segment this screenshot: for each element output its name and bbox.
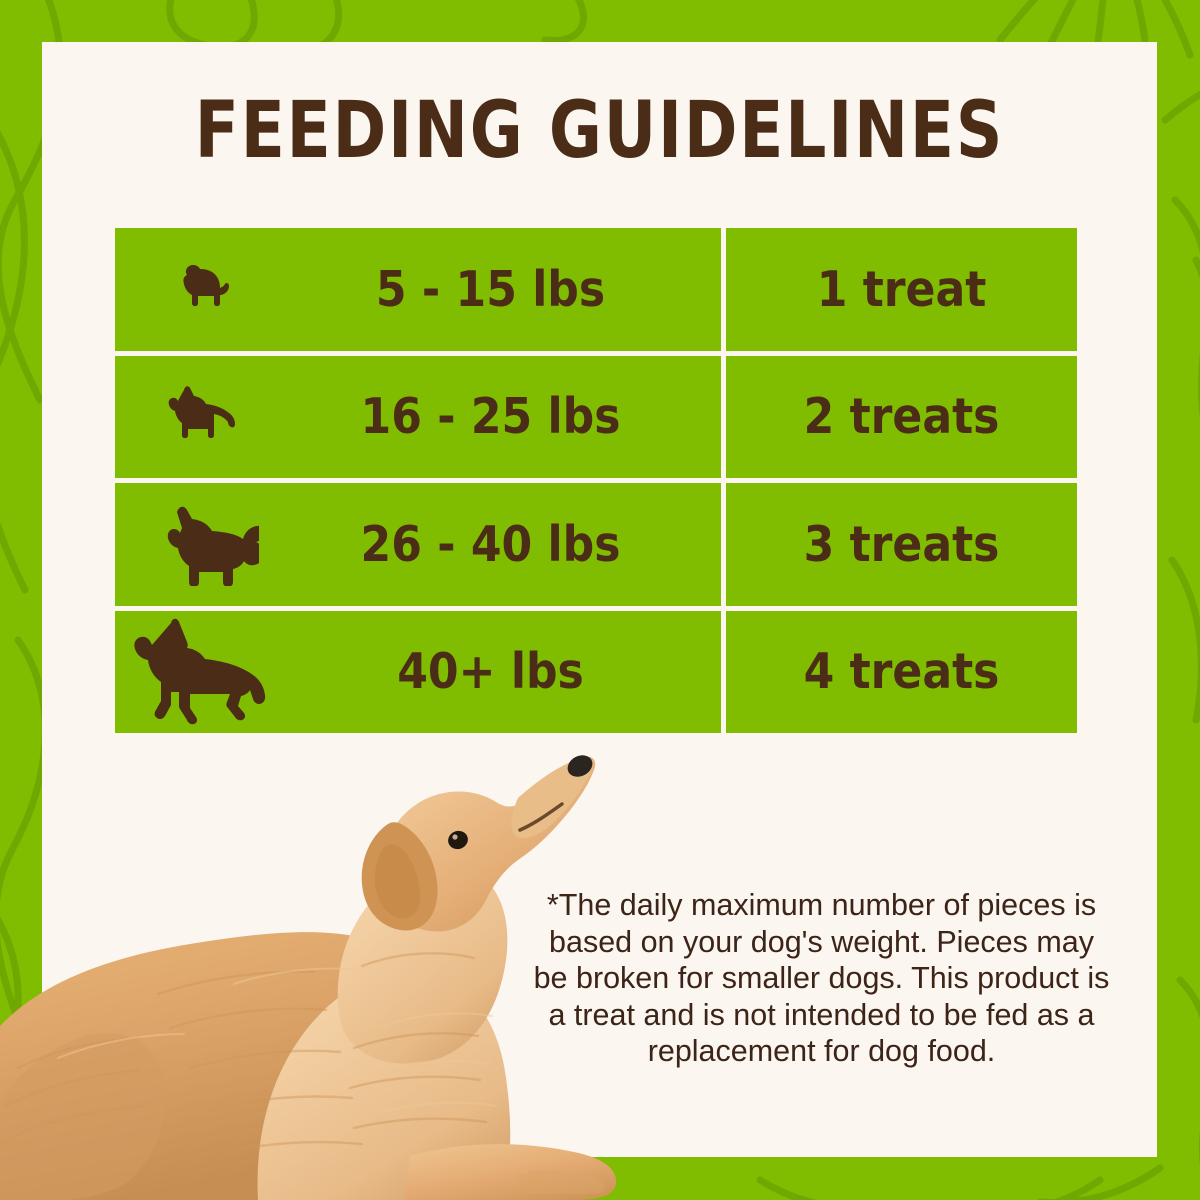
treats-cell: 4 treats bbox=[726, 611, 1077, 734]
treat-label: 2 treats bbox=[804, 388, 1000, 445]
corgi-dog-icon bbox=[115, 384, 290, 450]
treats-cell: 1 treat bbox=[726, 228, 1077, 351]
treat-label: 3 treats bbox=[804, 516, 1000, 573]
weight-cell: 16 - 25 lbs bbox=[115, 356, 721, 479]
treat-label: 4 treats bbox=[804, 643, 1000, 700]
disclaimer-text: *The daily maximum number of pieces is b… bbox=[529, 887, 1114, 1070]
weight-cell: 40+ lbs bbox=[115, 611, 721, 734]
weight-label: 5 - 15 lbs bbox=[290, 261, 721, 318]
medium-fluffy-dog-icon bbox=[115, 502, 290, 586]
feeding-guidelines-table: 5 - 15 lbs 1 treat 16 - 25 lbs 2 treats bbox=[115, 228, 1077, 733]
content-card: FEEDING GUIDELINES 5 - 15 lbs 1 treat bbox=[42, 42, 1157, 1157]
page-title: FEEDING GUIDELINES bbox=[87, 92, 1113, 170]
table-row: 16 - 25 lbs 2 treats bbox=[115, 356, 1077, 479]
treats-cell: 3 treats bbox=[726, 483, 1077, 606]
weight-cell: 26 - 40 lbs bbox=[115, 483, 721, 606]
weight-label: 26 - 40 lbs bbox=[290, 516, 721, 573]
table-row: 40+ lbs 4 treats bbox=[115, 611, 1077, 734]
weight-label: 40+ lbs bbox=[290, 643, 721, 700]
treat-label: 1 treat bbox=[817, 261, 987, 318]
large-shepherd-dog-icon bbox=[115, 617, 290, 727]
table-row: 5 - 15 lbs 1 treat bbox=[115, 228, 1077, 351]
table-row: 26 - 40 lbs 3 treats bbox=[115, 483, 1077, 606]
small-dog-icon bbox=[115, 259, 290, 319]
treats-cell: 2 treats bbox=[726, 356, 1077, 479]
weight-cell: 5 - 15 lbs bbox=[115, 228, 721, 351]
weight-label: 16 - 25 lbs bbox=[290, 388, 721, 445]
